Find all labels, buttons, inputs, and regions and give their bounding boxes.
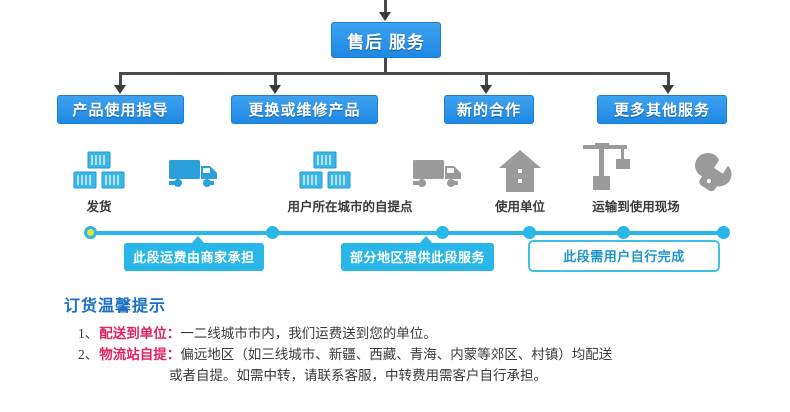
- flow-label-pickup-point: 用户所在城市的自提点: [250, 196, 450, 215]
- order-note-1-key: 配送到单位：: [99, 323, 180, 344]
- callout-nub-1: [191, 236, 205, 244]
- order-note-1-number: 1、: [78, 323, 98, 344]
- flow-label-transport-to-site: 运输到使用现场: [566, 196, 706, 215]
- tree-arrow-2: [269, 85, 281, 94]
- order-note-1-body: 一二线城市市内，我们运费送到您的单位。: [180, 323, 784, 344]
- child-node-new-cooperation[interactable]: 新的合作: [444, 95, 534, 124]
- order-note-item-2: 2、 物流站自提： 偏远地区（如三线城市、新疆、西藏、青海、内蒙等郊区、村镇）均…: [78, 344, 784, 365]
- child-node-label-4: 更多其他服务: [614, 99, 710, 120]
- child-node-label-2: 更换或维修产品: [248, 99, 360, 120]
- tree-arrow-4: [662, 85, 674, 94]
- timeline-callout-partial-region-service: 部分地区提供此段服务: [341, 243, 494, 271]
- timeline-dot-start[interactable]: [84, 226, 97, 239]
- tree-bus: [120, 72, 670, 75]
- flow-label-using-unit-text: 使用单位: [495, 200, 545, 214]
- order-note-2-body: 偏远地区（如三线城市、新疆、西藏、青海、内蒙等郊区、村镇）均配送: [180, 344, 784, 365]
- root-node-after-sales-service[interactable]: 售后 服务: [331, 22, 441, 58]
- tree-stem-bottom: [384, 58, 387, 73]
- containers-icon-pickup: [297, 150, 353, 197]
- child-node-more-services[interactable]: 更多其他服务: [597, 95, 727, 124]
- timeline-callout-user-self-complete: 此段需用户自行完成: [528, 240, 720, 272]
- flow-label-pickup-point-text: 用户所在城市的自提点: [287, 200, 412, 214]
- order-notes: 订货温馨提示 1、 配送到单位： 一二线城市市内，我们运费送到您的单位。 2、 …: [64, 292, 784, 386]
- order-note-2-key: 物流站自提：: [99, 344, 180, 365]
- timeline-callout-user-self-complete-text: 此段需用户自行完成: [563, 249, 685, 264]
- order-note-2-number: 2、: [78, 344, 98, 365]
- timeline-dot-2[interactable]: [266, 226, 279, 239]
- flow-label-using-unit: 使用单位: [480, 196, 560, 215]
- child-node-label-1: 产品使用指导: [72, 99, 168, 120]
- containers-icon: [71, 150, 127, 197]
- order-notes-title: 订货温馨提示: [64, 292, 784, 316]
- tree-arrow-3: [480, 85, 492, 94]
- timeline-dot-end[interactable]: [717, 226, 730, 239]
- flow-label-shipping: 发货: [59, 196, 139, 215]
- timeline-dot-5[interactable]: [617, 226, 630, 239]
- child-node-label-3: 新的合作: [457, 99, 521, 120]
- after-sales-service-infographic: 售后 服务 产品使用指导 更换或维修产品 新的合作 更多其他服务: [0, 0, 790, 412]
- truck-icon-gray: [411, 155, 467, 196]
- order-note-2-continuation: 或者自提。如需中转，请联系客服，中转费用需客户自行承担。: [169, 365, 784, 386]
- timeline-callout-merchant-pays-text: 此段运费由商家承担: [133, 250, 255, 265]
- order-note-item-1: 1、 配送到单位： 一二线城市市内，我们运费送到您的单位。: [78, 323, 784, 344]
- callout-nub-2: [419, 236, 433, 244]
- root-node-label: 售后 服务: [347, 28, 425, 53]
- timeline-callout-partial-region-service-text: 部分地区提供此段服务: [350, 250, 485, 265]
- tree-arrow-1: [114, 85, 126, 94]
- timeline-dot-4[interactable]: [523, 226, 536, 239]
- child-node-product-usage-guide[interactable]: 产品使用指导: [57, 95, 184, 124]
- flow-label-shipping-text: 发货: [86, 200, 111, 214]
- flow-label-transport-to-site-text: 运输到使用现场: [592, 200, 680, 214]
- child-node-replace-or-repair[interactable]: 更换或维修产品: [231, 95, 378, 124]
- house-icon: [497, 148, 543, 199]
- tree-arrow-root: [379, 12, 391, 21]
- crane-icon: [573, 143, 639, 200]
- timeline-dot-3[interactable]: [436, 226, 449, 239]
- wrench-icon: [694, 150, 740, 199]
- truck-icon: [167, 155, 223, 196]
- timeline-callout-merchant-pays: 此段运费由商家承担: [124, 243, 264, 271]
